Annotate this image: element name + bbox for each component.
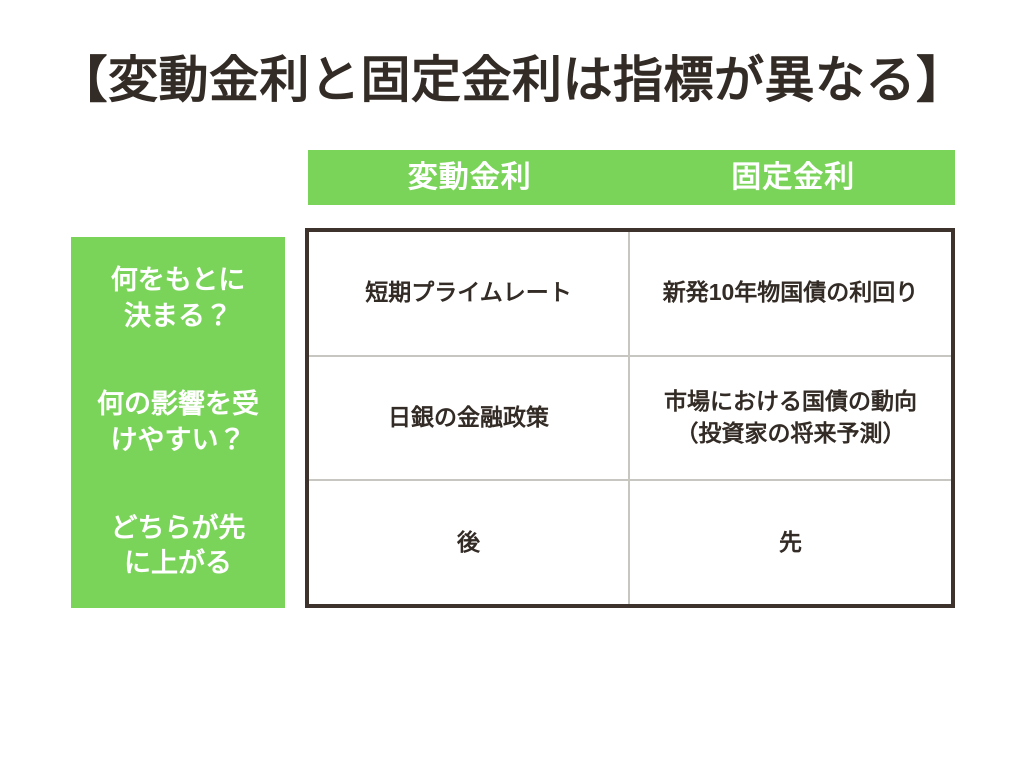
table-row: 後 先 xyxy=(309,481,951,604)
cell-basis-variable: 短期プライムレート xyxy=(309,232,630,355)
row-label-influence-line1: 何の影響を受 xyxy=(97,387,259,423)
row-label-which-rises-first-line2: に上がる xyxy=(111,546,246,582)
cell-basis-variable-line1: 短期プライムレート xyxy=(365,277,572,309)
cell-influence-fixed-line1: 市場における国債の動向 xyxy=(664,386,917,418)
row-label-influence-line2: けやすい？ xyxy=(97,423,259,459)
cell-basis-fixed: 新発10年物国債の利回り xyxy=(630,232,951,355)
column-header-variable-rate: 変動金利 xyxy=(308,163,632,193)
cell-order-variable: 後 xyxy=(309,481,630,604)
column-header-fixed-rate: 固定金利 xyxy=(632,163,956,193)
table-row: 短期プライムレート 新発10年物国債の利回り xyxy=(309,232,951,357)
cell-basis-fixed-line1: 新発10年物国債の利回り xyxy=(663,277,919,309)
row-label-which-rises-first-line1: どちらが先 xyxy=(111,511,246,547)
row-label-basis-line1: 何をもとに xyxy=(111,263,245,299)
comparison-table: 短期プライムレート 新発10年物国債の利回り 日銀の金融政策 市場における国債の… xyxy=(305,228,955,608)
column-header-band: 変動金利 固定金利 xyxy=(308,150,955,205)
slide-canvas: 【変動金利と固定金利は指標が異なる】 変動金利 固定金利 何をもとに 決まる？ … xyxy=(0,0,1024,768)
cell-order-variable-line1: 後 xyxy=(457,527,480,559)
cell-order-fixed-line1: 先 xyxy=(779,527,802,559)
table-row: 日銀の金融政策 市場における国債の動向 （投資家の将来予測） xyxy=(309,357,951,482)
cell-influence-fixed-line2: （投資家の将来予測） xyxy=(664,418,917,450)
cell-influence-fixed: 市場における国債の動向 （投資家の将来予測） xyxy=(630,357,951,480)
cell-influence-variable: 日銀の金融政策 xyxy=(309,357,630,480)
row-label-basis: 何をもとに 決まる？ xyxy=(71,237,285,361)
page-title: 【変動金利と固定金利は指標が異なる】 xyxy=(0,52,1024,108)
row-label-influence: 何の影響を受 けやすい？ xyxy=(71,361,285,485)
row-label-column: 何をもとに 決まる？ 何の影響を受 けやすい？ どちらが先 に上がる xyxy=(71,237,285,608)
cell-influence-variable-line1: 日銀の金融政策 xyxy=(388,402,549,434)
row-label-which-rises-first: どちらが先 に上がる xyxy=(71,484,285,608)
row-label-basis-line2: 決まる？ xyxy=(111,299,245,335)
cell-order-fixed: 先 xyxy=(630,481,951,604)
